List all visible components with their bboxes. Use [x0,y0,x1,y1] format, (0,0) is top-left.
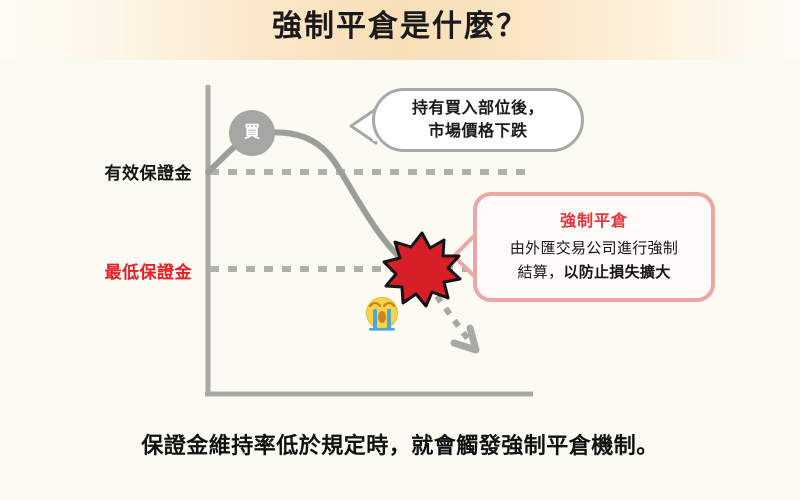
callout-body-bold: 以防止損失擴大 [563,264,670,281]
price-curve [208,132,408,265]
callout-body-normal: 結算， [517,264,563,281]
callout-heading: 強制平倉 [560,210,628,234]
liquidation-callout: 強制平倉 由外匯交易公司進行強制 結算，以防止損失擴大 [473,192,715,302]
page-title: 強制平倉是什麼？ [0,6,800,48]
callout-body-line-1: 由外匯交易公司進行強制 [510,237,678,261]
axis-label-effective-margin: 有效保證金 [105,159,193,184]
speech-bubble-line-1: 持有買入部位後， [412,97,544,120]
axis-label-minimum-margin: 最低保證金 [105,258,193,283]
chart-area: 有效保證金 最低保證金 買 持有買入部位後， 市場價格下跌 強制平倉 由外匯交易… [0,60,800,420]
infographic-root: 強制平倉是什麼？ 有效保證金 最低保證金 買 [0,0,800,500]
footer-caption: 保證金維持率低於規定時，就會觸發強制平倉機制。 [0,428,800,460]
buy-marker-badge: 買 [229,110,275,156]
buy-marker-label: 買 [244,125,260,141]
speech-bubble-line-2: 市場價格下跌 [428,120,527,143]
callout-body-line-2: 結算，以防止損失擴大 [517,261,670,285]
header-banner: 強制平倉是什麼？ [0,0,800,60]
loudly-crying-face-icon [362,294,402,334]
price-drop-speech-bubble: 持有買入部位後， 市場價格下跌 [372,88,584,152]
